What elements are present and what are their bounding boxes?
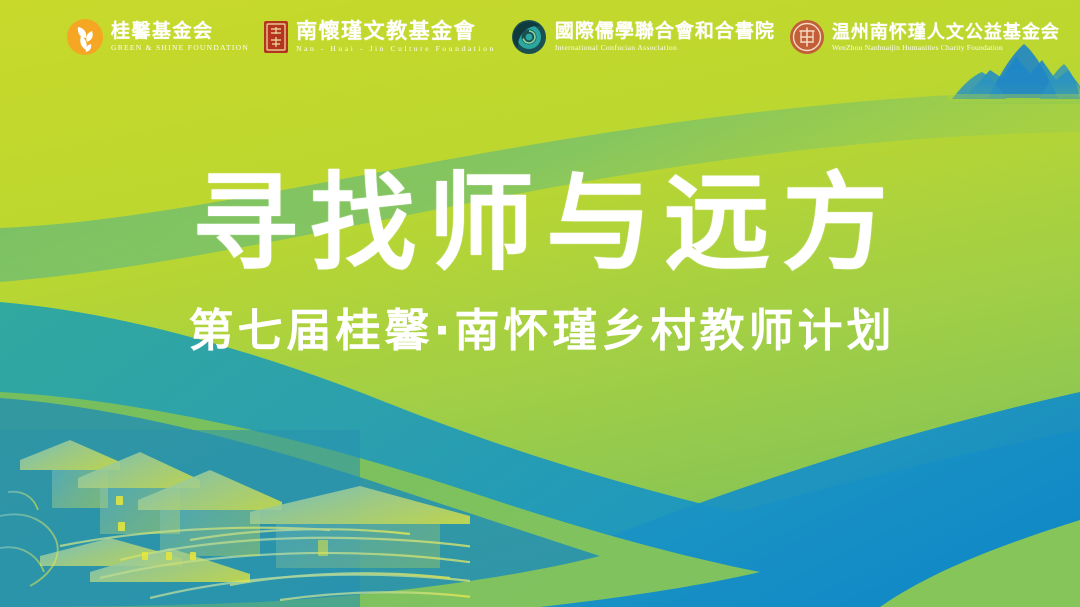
logo-green-shine-foundation[interactable]: 桂馨基金会 GREEN & SHINE FOUNDATION: [66, 18, 249, 56]
main-title: 寻找师与远方: [0, 168, 1080, 280]
sub-title: 第七届桂馨·南怀瑾乡村教师计划: [0, 294, 1080, 359]
logo-en-name: WenZhou Nanhuaijin Humanities Charity Fo…: [832, 44, 1060, 52]
round-seal-icon: [789, 19, 825, 55]
title-block: 寻找师与远方 第七届桂馨·南怀瑾乡村教师计划: [0, 168, 1080, 359]
poster-canvas: 桂馨基金会 GREEN & SHINE FOUNDATION 南懷瑾文教基金會 …: [0, 0, 1080, 607]
logo-en-name: GREEN & SHINE FOUNDATION: [111, 44, 249, 52]
leaf-circle-icon: [66, 18, 104, 56]
logo-nan-huai-jin-culture-foundation[interactable]: 南懷瑾文教基金會 Nan - Huai - Jin Culture Founda…: [263, 20, 496, 54]
globe-swirl-icon: [510, 18, 548, 56]
logo-wenzhou-nanhuaijin-humanities-charity-foundation[interactable]: 温州南怀瑾人文公益基金会 WenZhou Nanhuaijin Humaniti…: [789, 19, 1060, 55]
logo-cn-name: 國際儒學聯合會和合書院: [555, 22, 775, 41]
seal-stamp-icon: [263, 20, 289, 54]
logo-cn-name: 南懷瑾文教基金會: [296, 21, 496, 42]
logo-en-name: Nan - Huai - Jin Culture Foundation: [296, 45, 496, 53]
logo-cn-name: 温州南怀瑾人文公益基金会: [832, 23, 1060, 41]
logo-en-name: International Confucian Association: [555, 44, 775, 52]
logo-cn-name: 桂馨基金会: [111, 22, 249, 41]
logo-international-confucian-association[interactable]: 國際儒學聯合會和合書院 International Confucian Asso…: [510, 18, 775, 56]
partner-logo-bar: 桂馨基金会 GREEN & SHINE FOUNDATION 南懷瑾文教基金會 …: [0, 0, 1080, 74]
